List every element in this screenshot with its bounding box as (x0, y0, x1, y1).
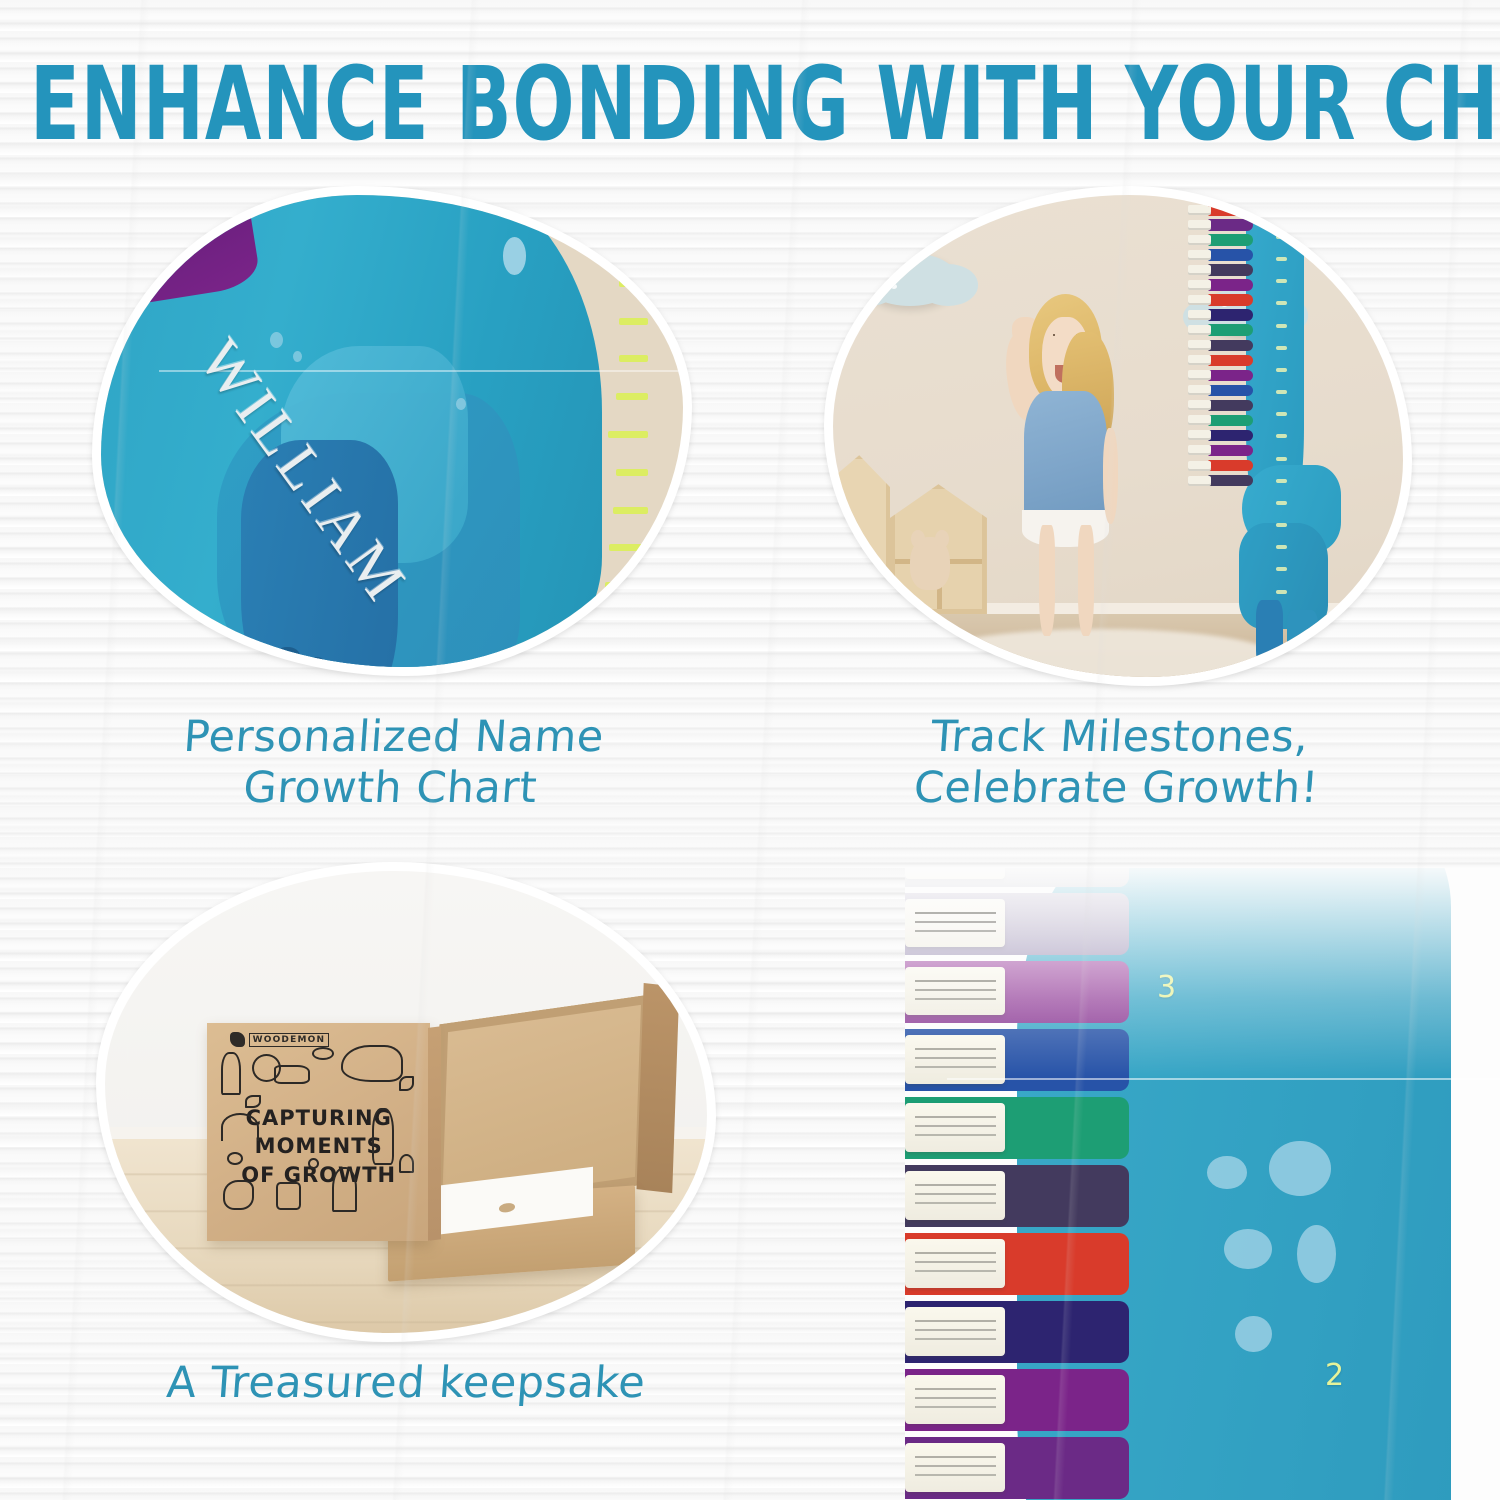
panel-2-image (833, 195, 1403, 677)
side-arm (1103, 428, 1118, 524)
doodle-lion-body-icon (274, 1065, 310, 1085)
measurement-guide-line (947, 1078, 1500, 1080)
plush-toy (833, 576, 879, 610)
teddy-bear (910, 537, 950, 590)
panel-3-image: WOODEMON CAPTURING MOMENTS OF GROWTH (105, 871, 707, 1333)
leg (1039, 525, 1055, 636)
brand-logo: WOODEMON (230, 1032, 330, 1047)
brand-name: WOODEMON (249, 1033, 330, 1047)
dino-toe-nail (275, 647, 300, 666)
caption-line-2: Celebrate Growth! (820, 763, 1412, 814)
doodle-leaf-icon (399, 1076, 415, 1091)
dino-spots (1185, 1134, 1465, 1498)
doodle-star-icon (308, 1158, 319, 1169)
ruler-ticks (578, 195, 648, 667)
woodemon-mark-icon (230, 1032, 245, 1047)
child-figure (1004, 272, 1129, 643)
cloud-pillow (862, 253, 959, 306)
doodle-sun-icon (227, 1152, 243, 1165)
plate-page-edge (101, 232, 136, 277)
dino-spine-plates (1208, 195, 1252, 561)
infographic-page: ENHANCE BONDING WITH YOUR CHILD (0, 0, 1500, 1500)
doodle-bird-icon (223, 1180, 254, 1210)
caption-line-1: Track Milestones, (824, 712, 1416, 763)
doodle-cat-icon (276, 1182, 301, 1210)
caption-personalized-name: Personalized Name Growth Chart (88, 712, 695, 813)
doodle-cactus-icon (221, 1052, 241, 1095)
eye (1053, 334, 1055, 336)
panel-personalized-name: WILLIAM (92, 186, 692, 676)
paper-hole (499, 1203, 515, 1214)
doodle-dinosaur-icon (341, 1045, 403, 1082)
doodle-sprout-icon (399, 1154, 415, 1174)
doodle-rainbow-icon (221, 1113, 259, 1141)
doodle-leaf-icon (245, 1095, 261, 1108)
dress-ruffle (1022, 510, 1110, 547)
leg (1078, 525, 1094, 636)
dino-growth-chart (1164, 195, 1335, 667)
panel-ruler-closeup: 3 2 (905, 868, 1500, 1500)
doodle-cloud-icon (312, 1047, 334, 1060)
caption-track-milestones: Track Milestones, Celebrate Growth! (820, 712, 1415, 813)
caption-line-1: Personalized Name (92, 712, 696, 763)
panel-4-image: 3 2 (905, 868, 1500, 1500)
doodle-giraffe-icon (372, 1108, 394, 1164)
caption-line-2: Growth Chart (88, 763, 692, 814)
dino-spot (503, 237, 526, 275)
doodle-palm-tree-icon (332, 1167, 357, 1213)
page-title: ENHANCE BONDING WITH YOUR CHILD (30, 44, 1470, 163)
dino-spot (270, 332, 283, 348)
blue-dress (1024, 391, 1107, 528)
dino-toe-nail (307, 657, 326, 667)
ruler-ticks (1276, 195, 1293, 638)
caption-line-1: A Treasured keepsake (94, 1358, 718, 1409)
ruler-label-3: 3 (1157, 970, 1176, 1005)
keepsake-box: WOODEMON CAPTURING MOMENTS OF GROWTH (207, 1023, 430, 1240)
panel-treasured-keepsake: WOODEMON CAPTURING MOMENTS OF GROWTH (96, 862, 716, 1342)
dino-spine-plates (905, 868, 1129, 1500)
ruler-ticks (1458, 868, 1500, 1500)
panel-track-milestones (824, 186, 1412, 686)
ruler-label-2: 2 (1325, 1358, 1344, 1393)
panel-1-image: WILLIAM (101, 195, 683, 667)
caption-treasured-keepsake: A Treasured keepsake (94, 1358, 718, 1409)
